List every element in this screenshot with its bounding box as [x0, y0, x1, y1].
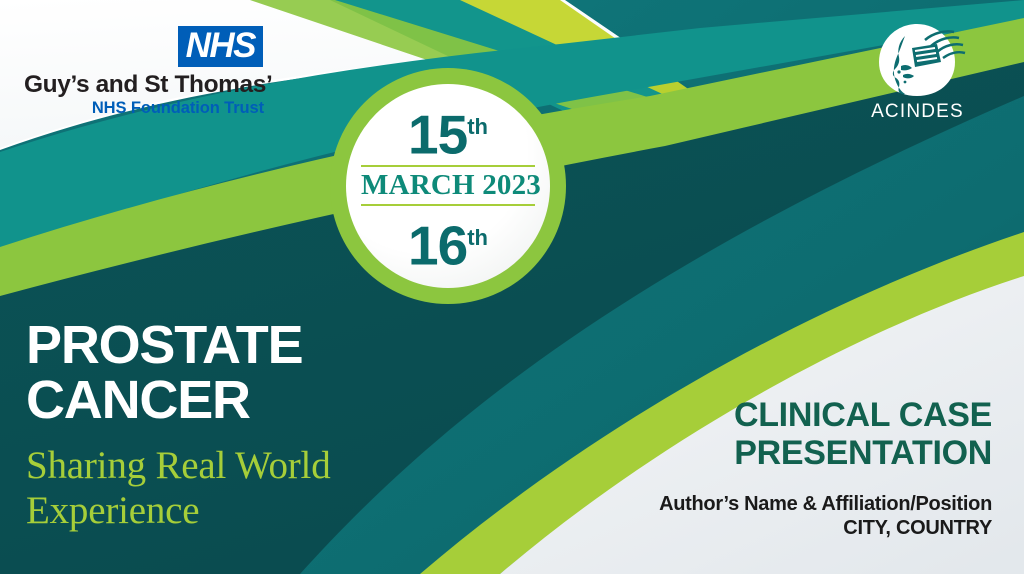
nhs-trust-name: Guy’s and St Thomas’	[24, 71, 264, 99]
title-line-prostate: PROSTATE	[26, 318, 446, 373]
date-month-year: MARCH 2023	[361, 169, 535, 201]
acindes-wordmark: ACINDES	[855, 102, 980, 122]
date-day-first-suffix: th	[467, 114, 488, 139]
author-location: CITY, COUNTRY	[560, 516, 992, 540]
presentation-heading-line-1: CLINICAL CASE	[560, 396, 992, 434]
date-badge-content: 15th MARCH 2023 16th	[346, 84, 550, 288]
subtitle-line-2: Experience	[26, 488, 446, 533]
date-day-first-number: 15	[408, 103, 467, 165]
date-day-second-suffix: th	[467, 225, 488, 250]
subtitle-line-1: Sharing Real World	[26, 443, 446, 488]
date-day-second: 16th	[408, 209, 488, 274]
date-day-first: 15th	[408, 98, 488, 163]
author-affiliation: Author’s Name & Affiliation/Position	[560, 492, 992, 516]
presentation-heading-line-2: PRESENTATION	[560, 434, 992, 472]
nhs-guys-st-thomas-logo: NHS Guy’s and St Thomas’ NHS Foundation …	[24, 26, 264, 118]
nhs-badge-icon: NHS	[178, 26, 263, 67]
date-month-rules: MARCH 2023	[361, 165, 535, 206]
presentation-info-block: CLINICAL CASE PRESENTATION Author’s Name…	[560, 396, 992, 540]
nhs-foundation-trust-label: NHS Foundation Trust	[24, 98, 264, 118]
acindes-globe-face-icon	[855, 22, 980, 98]
event-date-badge: 15th MARCH 2023 16th	[330, 68, 566, 304]
presentation-title-slide: NHS Guy’s and St Thomas’ NHS Foundation …	[0, 0, 1024, 574]
title-line-cancer: CANCER	[26, 373, 446, 428]
date-day-second-number: 16	[408, 214, 467, 276]
main-title-block: PROSTATE CANCER Sharing Real World Exper…	[26, 318, 446, 533]
acindes-logo: ACINDES	[855, 22, 980, 122]
